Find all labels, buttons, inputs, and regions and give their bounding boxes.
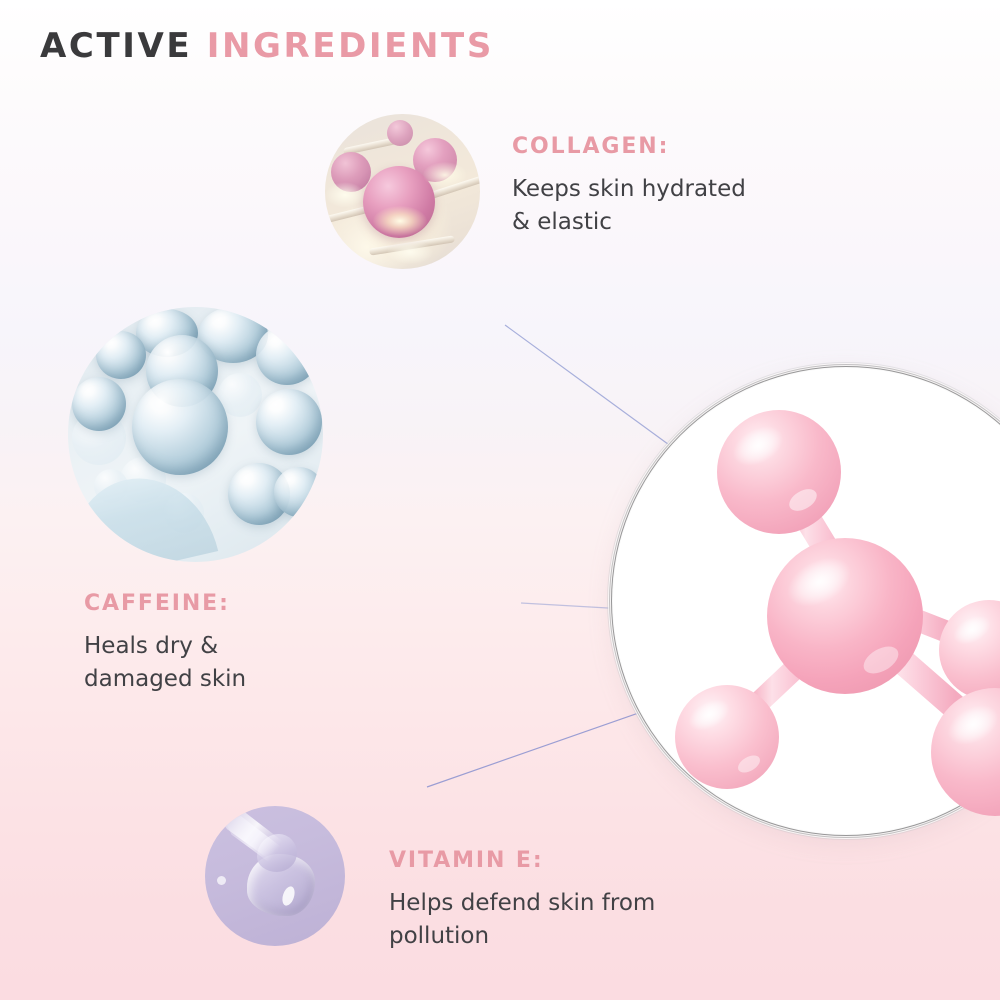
atom-center (767, 538, 923, 694)
page-title: ACTIVE INGREDIENTS (40, 29, 494, 63)
caffeine-heading: CAFFEINE: (84, 592, 246, 616)
collagen-light-flare (423, 162, 467, 188)
atom-top-left (717, 410, 841, 534)
infographic-canvas: ACTIVE INGREDIENTS COLLAGEN: Keeps skin … (0, 0, 1000, 1000)
ingredient-block-vitamin-e: VITAMIN E: Helps defend skin from pollut… (389, 849, 655, 953)
collagen-description: Keeps skin hydrated & elastic (512, 173, 746, 238)
ingredient-block-caffeine: CAFFEINE: Heals dry & damaged skin (84, 592, 246, 696)
ingredient-block-collagen: COLLAGEN: Keeps skin hydrated & elastic (512, 135, 746, 239)
caffeine-description: Heals dry & damaged skin (84, 630, 246, 695)
collagen-sphere-top (387, 120, 413, 146)
title-word-active: ACTIVE (40, 26, 192, 66)
vitamin-e-description: Helps defend skin from pollution (389, 887, 655, 952)
molecule-atoms (675, 410, 1000, 816)
caffeine-bubble-large (132, 379, 228, 475)
vitamin-e-thumbnail-image (205, 806, 345, 946)
connector-caffeine (521, 603, 625, 609)
pink-molecule-illustration (613, 368, 1000, 834)
main-molecule-circle (613, 368, 1000, 834)
collagen-light-flare (373, 206, 427, 236)
collagen-thumbnail-image (325, 114, 480, 269)
vitamin-e-heading: VITAMIN E: (389, 849, 655, 873)
vitamin-e-droplet (217, 876, 226, 885)
title-word-ingredients: INGREDIENTS (207, 26, 494, 66)
caffeine-thumbnail-image (68, 307, 323, 562)
collagen-heading: COLLAGEN: (512, 135, 746, 159)
collagen-light-flare (325, 182, 365, 208)
collagen-light-flare (387, 240, 433, 264)
atom-bottom-left (675, 685, 779, 789)
